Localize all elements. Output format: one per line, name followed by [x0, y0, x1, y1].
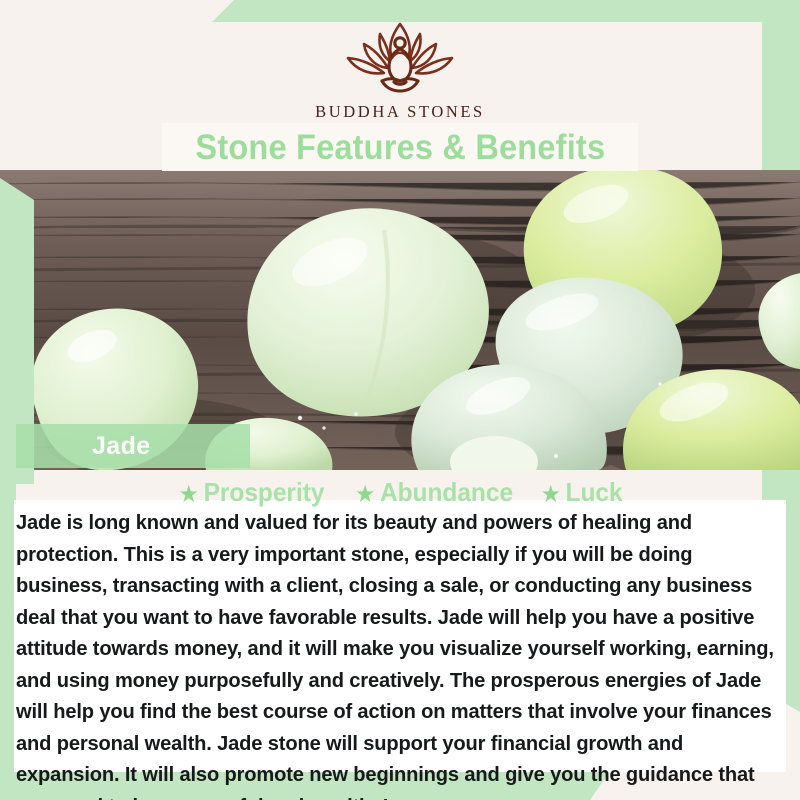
- brand-wordmark: BUDDHA STONES: [0, 102, 800, 122]
- stone-name-label: Jade: [16, 434, 151, 459]
- benefit-item: ★Prosperity: [179, 479, 325, 507]
- benefit-label: Abundance: [380, 477, 513, 507]
- benefit-label: Prosperity: [204, 477, 325, 507]
- benefit-item: ★Abundance: [355, 479, 513, 507]
- benefits-row: ★Prosperity ★Abundance ★Luck: [0, 479, 800, 507]
- star-icon: ★: [355, 483, 375, 507]
- lotus-meditation-icon: [336, 18, 464, 96]
- body-paragraph: Jade is long known and valued for its be…: [16, 508, 776, 800]
- benefit-item: ★Luck: [541, 479, 623, 507]
- page-title: Stone Features & Benefits: [195, 130, 605, 165]
- infographic-page: BUDDHA STONES Stone Features & Benefits: [0, 0, 800, 800]
- brand-logo-block: BUDDHA STONES: [0, 18, 800, 122]
- star-icon: ★: [179, 483, 199, 507]
- benefit-label: Luck: [566, 477, 623, 507]
- headline-banner: Stone Features & Benefits: [162, 123, 638, 171]
- stone-name-tab: Jade: [16, 424, 250, 468]
- star-icon: ★: [541, 483, 561, 507]
